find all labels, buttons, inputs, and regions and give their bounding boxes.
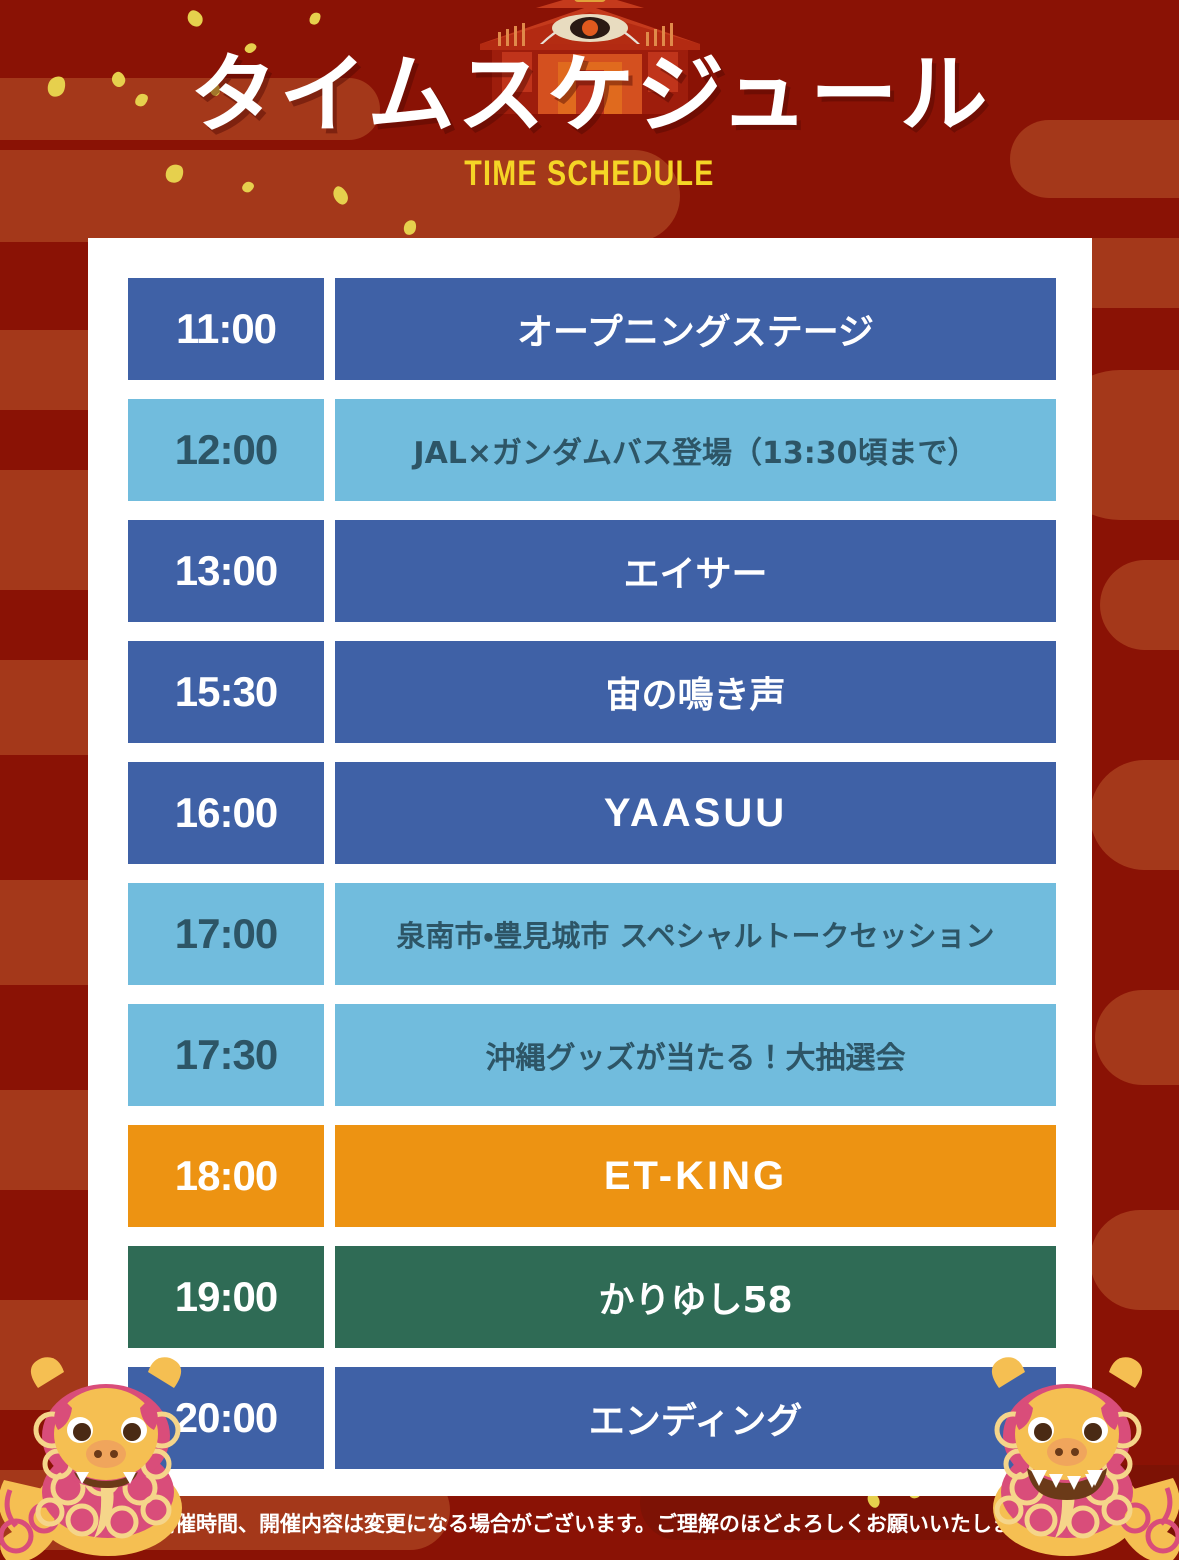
schedule-row: 12:00JAL×ガンダムバス登場（13:30頃まで） (128, 399, 1056, 501)
schedule-panel: 11:00オープニングステージ12:00JAL×ガンダムバス登場（13:30頃ま… (88, 238, 1092, 1496)
schedule-title: エイサー (335, 520, 1056, 622)
schedule-title: エンディング (335, 1367, 1056, 1469)
page-subtitle: TIME SCHEDULE (106, 154, 1073, 194)
cloud-shape (1100, 560, 1179, 650)
schedule-title: かりゆし58 (335, 1246, 1056, 1348)
schedule-row: 18:00ET-KING (128, 1125, 1056, 1227)
poster-header: タイムスケジュール TIME SCHEDULE (0, 0, 1179, 194)
schedule-row-list: 11:00オープニングステージ12:00JAL×ガンダムバス登場（13:30頃ま… (128, 278, 1056, 1469)
schedule-row: 16:00YAASUU (128, 762, 1056, 864)
shisa-lion-left (0, 1330, 220, 1560)
schedule-time: 11:00 (128, 278, 324, 380)
schedule-row: 17:30沖縄グッズが当たる！大抽選会 (128, 1004, 1056, 1106)
schedule-title: JAL×ガンダムバス登場（13:30頃まで） (335, 399, 1056, 501)
schedule-title: YAASUU (335, 762, 1056, 864)
schedule-time: 15:30 (128, 641, 324, 743)
shisa-lion-right (957, 1330, 1179, 1560)
schedule-title: オープニングステージ (335, 278, 1056, 380)
schedule-time: 17:00 (128, 883, 324, 985)
schedule-time: 18:00 (128, 1125, 324, 1227)
schedule-title: 泉南市・豊見城市 スペシャルトークセッション (335, 883, 1056, 985)
schedule-title: 宙の鳴き声 (335, 641, 1056, 743)
cloud-shape (1090, 760, 1179, 870)
page-title: タイムスケジュール (0, 50, 1179, 140)
schedule-row: 13:00エイサー (128, 520, 1056, 622)
schedule-title: 沖縄グッズが当たる！大抽選会 (335, 1004, 1056, 1106)
schedule-row: 11:00オープニングステージ (128, 278, 1056, 380)
schedule-row: 17:00泉南市・豊見城市 スペシャルトークセッション (128, 883, 1056, 985)
schedule-row: 15:30宙の鳴き声 (128, 641, 1056, 743)
cloud-shape (1095, 990, 1179, 1085)
poster-root: タイムスケジュール TIME SCHEDULE 11:00オープニングステージ1… (0, 0, 1179, 1560)
schedule-row: 20:00エンディング (128, 1367, 1056, 1469)
cloud-shape (1090, 1210, 1179, 1310)
schedule-row: 19:00かりゆし58 (128, 1246, 1056, 1348)
schedule-time: 16:00 (128, 762, 324, 864)
schedule-time: 12:00 (128, 399, 324, 501)
schedule-title: ET-KING (335, 1125, 1056, 1227)
schedule-time: 13:00 (128, 520, 324, 622)
schedule-time: 17:30 (128, 1004, 324, 1106)
